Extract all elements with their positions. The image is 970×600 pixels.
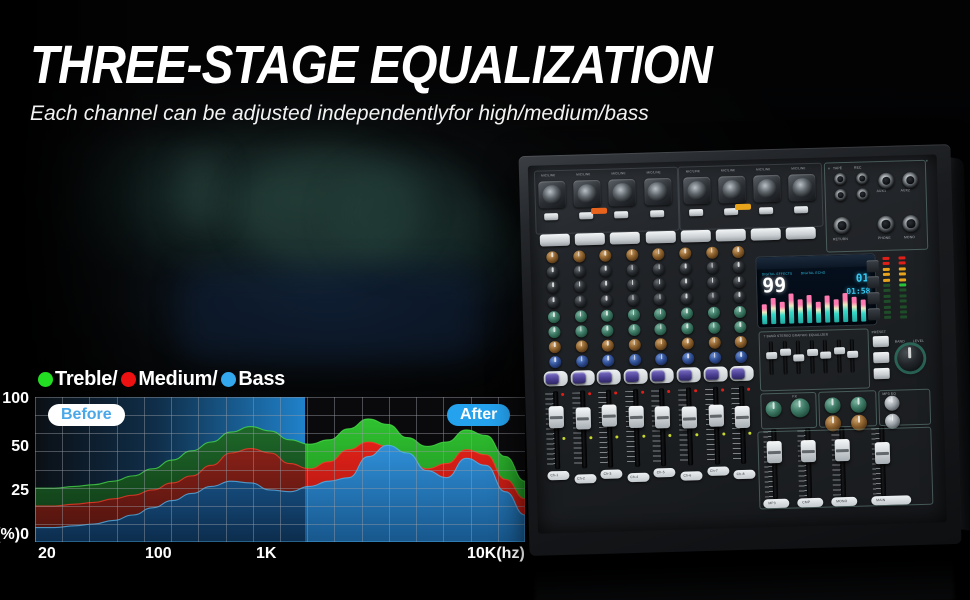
grid-line-horizontal [35,397,525,398]
knob-aux1-ch4[interactable] [628,309,640,321]
knob-efx-ch8[interactable] [735,336,747,348]
legend-label-medium: Medium/ [138,368,217,391]
knob-mid-ch1[interactable] [547,281,559,293]
vu-led-0-10 [884,311,891,314]
peak-led-ch8 [747,388,750,391]
vu-led-1-8 [900,300,907,303]
vu-led-1-9 [900,305,907,308]
vu-led-0-9 [884,305,891,308]
channel-mute-7[interactable] [705,369,718,380]
vu-led-1-4 [899,278,906,281]
xlr-combo-jack-3[interactable] [609,179,637,207]
knob-high-ch7[interactable] [706,262,718,274]
fader-slot-ch3[interactable] [606,390,613,468]
phantom-led-1 [591,208,607,214]
spectrum-bar-12 [861,299,867,321]
channel-select-7[interactable] [751,228,781,241]
knob-pan-ch5[interactable] [655,353,667,365]
vu-led-0-7 [884,295,891,298]
xlr-combo-jack-8[interactable] [789,174,817,202]
vu-led-1-11 [900,316,907,319]
knob-aux2-ch8[interactable] [734,321,746,333]
knob-gain-ch8[interactable] [732,246,744,258]
xlr-label-4: MIC/LINE [647,170,661,174]
io-label-aux1: AUX1 [877,189,887,193]
legend-item-treble: Treble/ [38,368,117,391]
spectrum-bar-9 [834,299,840,322]
xlr-label-6: MIC/LINE [721,168,735,172]
pad-switch-4[interactable] [650,210,664,217]
spectrum-bar-6 [806,295,812,323]
vu-led-0-1 [883,262,890,265]
knob-gain-ch2[interactable] [573,250,585,262]
x-tick-100: 100 [145,545,172,563]
vu-led-0-8 [884,300,891,303]
knob-aux2-ch3[interactable] [601,325,613,337]
preset-button-2[interactable] [873,352,889,363]
xlr-combo-jack-2[interactable] [573,180,601,208]
spectrum-bar-2 [771,298,777,324]
signal-led-ch6 [695,433,698,436]
knob-high-ch3[interactable] [600,265,612,277]
xlr-label-1: MIC/LINE [541,173,555,177]
vu-led-1-10 [900,310,907,313]
knob-low-ch4[interactable] [627,294,639,306]
knob-low-ch6[interactable] [680,292,692,304]
vu-led-1-0 [898,256,905,259]
legend-label-bass: Bass [238,368,285,391]
signal-led-ch7 [722,432,725,435]
knob-low-ch2[interactable] [574,295,586,307]
knob-gain-ch5[interactable] [653,248,665,260]
knob-high-ch8[interactable] [733,261,745,273]
spectrum-bar-10 [842,293,848,322]
knob-aux2-ch1[interactable] [548,326,560,338]
vu-led-0-5 [883,284,890,287]
display-button-note-icon[interactable] [867,260,879,272]
vu-led-1-1 [899,262,906,265]
xlr-combo-jack-4[interactable] [644,178,672,206]
signal-led-ch3 [616,435,619,438]
xlr-combo-jack-7[interactable] [753,175,781,203]
graphic-eq-cap-5[interactable] [820,352,831,359]
graphic-eq-cap-7[interactable] [847,351,858,358]
main-out-panel [828,167,830,169]
knob-mid-ch7[interactable] [707,277,719,289]
display-header-bar [756,254,874,269]
legend-item-medium: Medium/ [121,368,217,391]
knob-low-ch3[interactable] [601,295,613,307]
x-tick-20: 20 [38,545,56,563]
grid-line-horizontal [35,506,525,507]
page-subtitle: Each channel can be adjusted independent… [30,102,649,126]
grid-line-horizontal [35,524,525,525]
signal-led-ch5 [669,434,672,437]
xlr-combo-jack-6[interactable] [718,176,746,204]
knob-aux1-ch3[interactable] [601,310,613,322]
knob-high-ch5[interactable] [653,263,665,275]
channel-mute-2[interactable] [572,372,585,383]
knob-gain-ch4[interactable] [626,249,638,261]
after-badge: After [447,404,510,426]
display-echo-label: DIGITAL ECHO [801,271,826,276]
fader-cap-ch8[interactable] [735,406,751,428]
eq-chart: Before After [35,397,525,542]
channel-select-5[interactable] [680,230,710,243]
knob-aux1-ch5[interactable] [654,308,666,320]
knob-efx-ch3[interactable] [602,340,614,352]
display-button-screen-icon[interactable] [867,276,879,288]
before-badge: Before [48,404,125,426]
vu-led-1-6 [899,289,906,292]
knob-mid-ch6[interactable] [680,277,692,289]
peak-led-ch2 [588,392,591,395]
knob-aux1-ch7[interactable] [707,307,719,319]
peak-led-ch7 [721,388,724,391]
channel-name-7: Ch-7 [710,469,718,473]
y-tick-50: 50 [11,438,29,456]
dot-icon [38,372,53,387]
vu-led-0-4 [883,278,890,281]
knob-pan-ch6[interactable] [682,352,694,364]
preset-button-3[interactable] [874,368,890,379]
knob-efx-ch1[interactable] [549,341,561,353]
channel-select-8[interactable] [786,227,816,240]
fader-slot-ch1[interactable] [553,391,560,469]
peak-led-ch6 [694,389,697,392]
channel-name-2: Ch-2 [577,476,585,480]
master-section-outline [757,427,933,510]
channel-mute-1[interactable] [546,373,559,384]
knob-efx-ch5[interactable] [655,338,667,350]
channel-select-1[interactable] [540,234,570,247]
peak-led-ch5 [667,390,670,393]
fader-cap-ch4[interactable] [628,405,644,427]
grid-line-horizontal [35,451,525,452]
io-label-mono: MONO [904,235,915,239]
fader-cap-ch6[interactable] [682,407,698,429]
legend-item-bass: Bass [221,368,285,391]
y-tick-25: 25 [11,482,29,500]
knob-gain-ch1[interactable] [546,251,558,263]
display-button-mp3-icon[interactable] [867,292,879,304]
xlr-label-7: MIC/LINE [756,167,770,171]
fader-cap-ch3[interactable] [602,405,618,427]
io-label-aux2: AUX2 [901,188,911,192]
fader-cap-ch2[interactable] [575,407,591,429]
knob-low-ch5[interactable] [654,293,666,305]
xlr-label-2: MIC/LINE [576,172,590,176]
graphic-eq-cap-3[interactable] [793,354,804,361]
grid-line-horizontal [35,488,525,489]
knob-gain-ch6[interactable] [679,247,691,259]
fader-cap-ch7[interactable] [708,405,724,427]
channel-mute-8[interactable] [732,368,745,379]
mp3-eq-label: MP3 EQ [882,392,896,396]
channel-name-6: Ch-6 [683,473,691,477]
dot-icon [221,372,236,387]
pad-switch-1[interactable] [544,213,558,220]
fader-cap-ch5[interactable] [655,406,671,428]
chart-legend: Treble/ Medium/ Bass [38,368,285,391]
band-label: BAND [895,339,905,343]
xlr-label-5: MIC/LINE [686,169,700,173]
knob-low-ch1[interactable] [547,296,559,308]
knob-pan-ch4[interactable] [629,354,641,366]
knob-efx-ch4[interactable] [628,339,640,351]
knob-gain-ch3[interactable] [599,250,611,262]
grid-line-horizontal [35,470,525,471]
spectrum-bar-7 [816,302,822,323]
promo-banner: THREE-STAGE EQUALIZATION Each channel ca… [0,0,970,600]
knob-pan-ch2[interactable] [576,355,588,367]
display-preset-number: 99 [762,275,787,296]
channel-mute-3[interactable] [599,372,612,383]
phantom-led-2 [735,204,751,210]
pad-switch-5[interactable] [689,209,703,216]
vu-led-0-6 [883,289,890,292]
display-button-skip-icon[interactable] [868,308,880,320]
io-label-return: RETURN [833,237,848,241]
knob-gain-ch7[interactable] [706,247,718,259]
x-tick-10k: 10K(hz) [467,545,525,563]
peak-led-ch4 [641,391,644,394]
xlr-label-8: MIC/LINE [791,166,805,170]
io-label-phone: PHONE [878,236,891,240]
pad-switch-7[interactable] [759,207,773,214]
preset-label: PRESET [872,330,887,334]
knob-low-ch8[interactable] [734,291,746,303]
main-out-box [926,160,928,162]
knob-mid-ch5[interactable] [653,278,665,290]
dot-icon [121,372,136,387]
knob-aux1-ch8[interactable] [734,306,746,318]
spectrum-bar-11 [852,297,858,322]
channel-select-3[interactable] [610,232,640,245]
signal-led-ch1 [562,437,565,440]
knob-efx-ch2[interactable] [575,340,587,352]
knob-aux2-ch4[interactable] [628,324,640,336]
page-title: THREE-STAGE EQUALIZATION [30,38,712,92]
knob-mid-ch4[interactable] [627,279,639,291]
x-tick-1k: 1K [256,545,276,563]
knob-efx-ch7[interactable] [708,337,720,349]
knob-high-ch1[interactable] [547,266,559,278]
fader-slot-ch4[interactable] [633,389,640,467]
knob-aux2-ch5[interactable] [655,323,667,335]
channel-mute-6[interactable] [679,369,692,380]
knob-mid-ch8[interactable] [733,276,745,288]
audio-mixer-console: MIC/LINEMIC/LINEMIC/LINEMIC/LINEMIC/LINE… [518,144,961,556]
vu-led-0-3 [883,273,890,276]
graphic-eq-cap-4[interactable] [807,349,818,356]
xlr-label-3: MIC/LINE [611,171,625,175]
signal-led-ch4 [642,435,645,438]
xlr-combo-jack-1[interactable] [538,181,566,209]
knob-high-ch4[interactable] [626,264,638,276]
chart-y-axis: 100 50 25 (%)0 [0,390,33,550]
grid-line-horizontal [35,433,525,434]
vu-led-1-2 [899,267,906,270]
xlr-combo-jack-5[interactable] [683,177,711,205]
spectrum-bar-5 [798,299,804,323]
spectrum-bar-4 [788,293,794,323]
knob-high-ch6[interactable] [680,262,692,274]
spectrum-bar-8 [825,295,831,322]
knob-mid-ch2[interactable] [574,280,586,292]
knob-pan-ch7[interactable] [709,352,721,364]
io-label-rec: REC [854,166,862,170]
channel-select-2[interactable] [575,233,605,246]
channel-select-6[interactable] [716,229,746,242]
preset-button-1[interactable] [873,336,889,347]
knob-pan-ch1[interactable] [549,356,561,368]
vu-led-1-7 [900,294,907,297]
vu-led-0-11 [884,316,891,319]
channel-name-3: Ch-3 [604,472,612,476]
vu-led-0-0 [882,257,889,260]
chart-x-axis: 20 100 1K 10K(hz) [0,545,540,569]
spectrum-bar-1 [762,304,768,324]
peak-led-ch3 [614,391,617,394]
channel-name-1: Ch-1 [550,473,558,477]
knob-mid-ch3[interactable] [600,280,612,292]
spectrum-bar-3 [780,302,786,324]
vu-led-0-2 [883,268,890,271]
knob-aux1-ch2[interactable] [574,310,586,322]
level-label: LEVEL [913,339,924,343]
pad-switch-8[interactable] [794,206,808,213]
y-tick-100: 100 [2,390,29,408]
fx-label: FX [792,394,797,398]
channel-name-8: Ch-8 [737,472,745,476]
mixer-front-panel: MIC/LINEMIC/LINEMIC/LINEMIC/LINEMIC/LINE… [528,154,947,533]
y-tick-0: (%)0 [0,526,29,544]
pad-switch-3[interactable] [614,211,628,218]
vu-led-1-5 [899,283,906,286]
channel-select-4[interactable] [645,231,675,244]
knob-efx-ch6[interactable] [682,337,694,349]
peak-led-ch1 [561,393,564,396]
graphic-eq-cap-1[interactable] [766,352,777,359]
channel-mute-5[interactable] [652,370,665,381]
io-label-tape: TAPE [833,166,842,170]
legend-label-treble: Treble/ [55,368,117,391]
knob-pan-ch8[interactable] [735,351,747,363]
signal-led-ch8 [748,432,751,435]
channel-name-5: Ch-5 [657,470,665,474]
knob-high-ch2[interactable] [573,265,585,277]
knob-aux1-ch1[interactable] [548,311,560,323]
lcd-display: DIGITAL EFFECTS DIGITAL ECHO 99 01 01:58 [756,254,876,327]
knob-pan-ch3[interactable] [602,355,614,367]
knob-aux2-ch6[interactable] [681,322,693,334]
knob-low-ch7[interactable] [707,292,719,304]
master-encoder-knob[interactable] [897,345,924,372]
signal-led-ch2 [589,436,592,439]
graphic-eq-cap-6[interactable] [833,347,844,354]
knob-aux2-ch7[interactable] [708,322,720,334]
vu-led-1-3 [899,273,906,276]
graphic-eq-cap-2[interactable] [779,349,790,356]
channel-name-4: Ch-4 [630,475,638,479]
fader-cap-ch1[interactable] [548,406,564,428]
knob-aux1-ch6[interactable] [681,307,693,319]
knob-aux2-ch2[interactable] [575,325,587,337]
channel-mute-4[interactable] [625,371,638,382]
